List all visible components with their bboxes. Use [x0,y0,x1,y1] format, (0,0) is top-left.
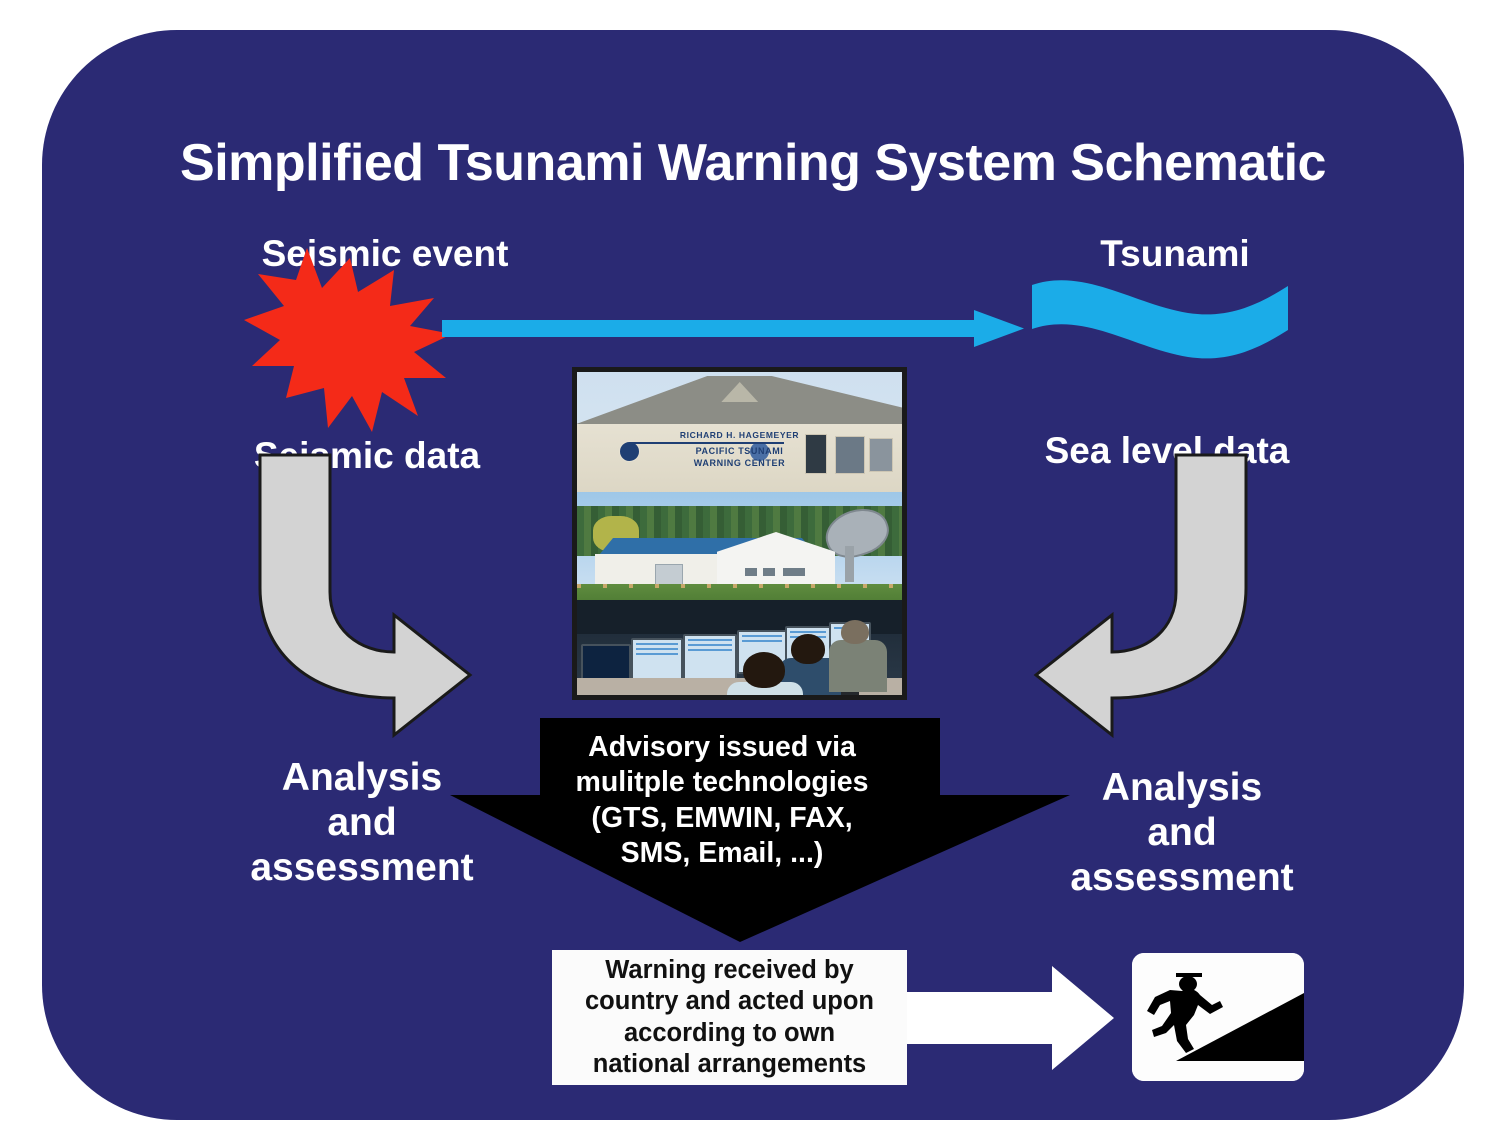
operator-head [791,634,825,664]
building-window [805,434,827,474]
advisory-arrow-label: Advisory issued via mulitple technologie… [532,730,912,871]
evacuation-sign-graphic [1132,953,1304,1081]
facility-window [745,568,757,576]
right-arrow-icon [442,310,1024,347]
curved-arrow-down-left-icon [1036,455,1246,735]
photo-band-facility-exterior [577,492,902,604]
operator-head [743,652,785,688]
warning-received-text: Warning received by country and acted up… [585,955,874,1079]
photo-band-ptwc-sign: RICHARD H. HAGEMEYER PACIFIC TSUNAMI WAR… [577,372,902,494]
photo-band-operations-room [577,600,902,699]
warning-received-box: Warning received by country and acted up… [552,950,907,1085]
building-window [835,436,865,474]
wave-icon [1032,280,1288,358]
building-window [869,438,893,472]
photo-sign-divider [629,442,784,444]
facility-window [763,568,775,576]
ptwc-photo-collage: RICHARD H. HAGEMEYER PACIFIC TSUNAMI WAR… [572,367,907,700]
right-block-arrow-icon [904,966,1114,1070]
satellite-dish-mast [845,546,854,582]
tsunami-evacuation-route-icon [1132,953,1304,1081]
monitor [683,634,737,680]
curved-arrow-down-right-icon [260,455,470,735]
operator-torso [829,640,887,692]
starburst-icon [244,248,452,432]
schematic-canvas: Simplified Tsunami Warning System Schema… [0,0,1500,1130]
monitor [631,638,683,682]
fence [577,584,902,588]
facility-window [783,568,805,576]
operator-head [841,620,869,644]
diagram-panel: Simplified Tsunami Warning System Schema… [42,30,1464,1120]
